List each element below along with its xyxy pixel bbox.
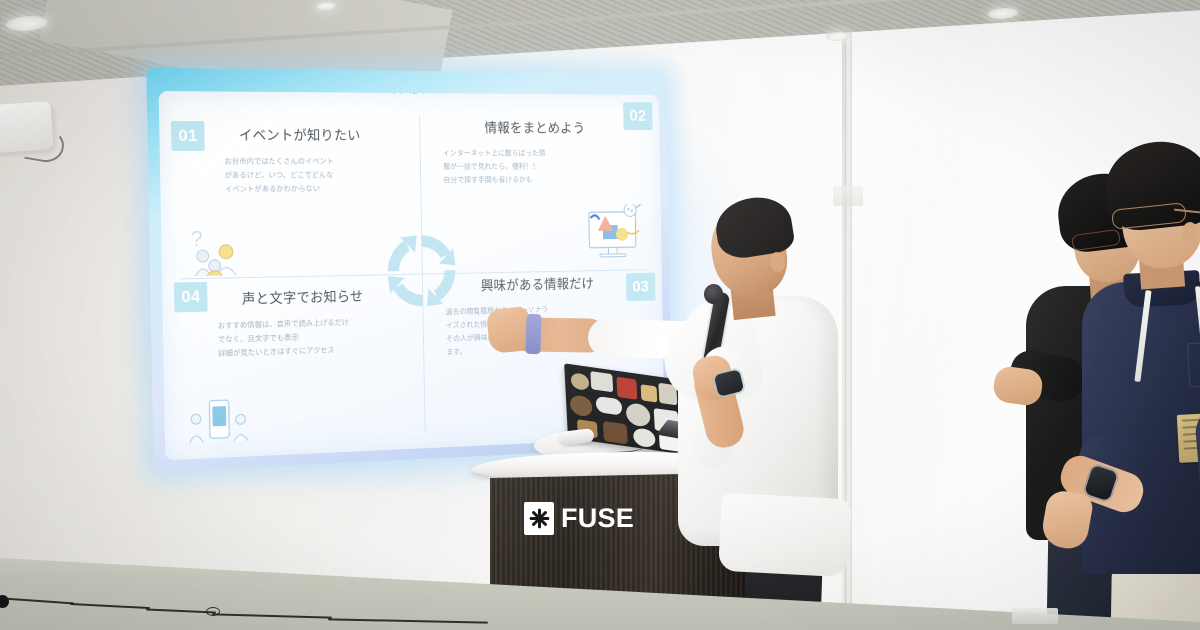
quadrant-body-line: 報が一括で見れたら、便利！！	[443, 160, 547, 174]
asterisk-icon	[524, 502, 554, 535]
quadrant-number-badge: 04	[174, 282, 208, 313]
floor-cable-loop	[206, 607, 220, 616]
attendee-navy-shirt	[1096, 146, 1200, 630]
people-question-icon: ?	[189, 222, 250, 276]
phone-voice-icon	[186, 395, 251, 443]
quadrant-body: インターネット上に散らばった情 報が一括で見れたら、便利！！ 自分で探す手間も省…	[443, 147, 547, 187]
presenter-shirt-hem	[718, 493, 852, 578]
quadrant-body-line: お台市内ではたくさんのイベント	[224, 155, 406, 169]
quadrant-body-line: があるけど、いつ、どこでどんな	[225, 168, 407, 183]
quadrant-heading: 情報をまとめよう	[433, 118, 634, 137]
svg-text:?: ?	[191, 226, 203, 251]
presenter	[600, 196, 858, 630]
quadrant-body: お台市内ではたくさんのイベント があるけど、いつ、どこでどんな イベントがあるか…	[224, 155, 407, 197]
floor-outlet-plate	[1012, 608, 1058, 624]
presenter-wristband	[525, 314, 541, 354]
quadrant-heading: 声と文字でお知らせ	[194, 285, 410, 310]
cycle-arrows-icon	[381, 229, 461, 313]
downlight-icon	[826, 31, 851, 42]
quadrant-body-line: イベントがあるかわからない	[225, 182, 407, 197]
quadrant-number-badge: 02	[623, 102, 652, 130]
attendee-navy-chest-pocket	[1187, 341, 1200, 388]
attendee-navy-ear	[1182, 222, 1198, 244]
quadrant-body-line: 自分で探す手間も省けるかも	[443, 173, 547, 187]
presentation-scene-photo: ユーザー体験ストーリー 01 イベントが知りたい お台市内ではたくさんのイベント…	[0, 0, 1200, 630]
quadrant-heading: イベントが知りたい	[191, 125, 407, 145]
quadrant-body: おすすめ情報は、音声で読み上げるだけ でなく、且文字でも表示 詳細が見たいときは…	[218, 314, 410, 361]
quadrant-body-line: インターネット上に散らばった情	[443, 147, 547, 160]
quadrant-number-badge: 01	[171, 121, 205, 151]
